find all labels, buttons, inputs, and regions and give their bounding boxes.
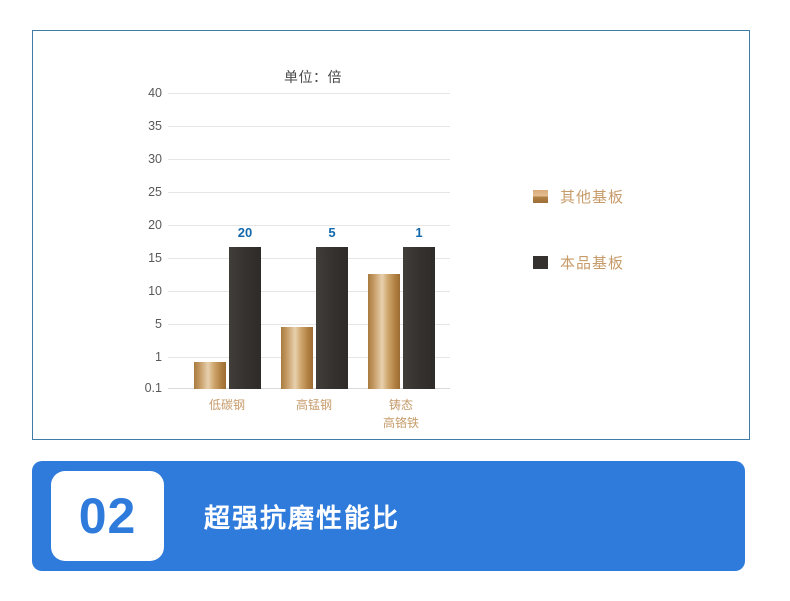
data-label-1: 20: [238, 225, 252, 240]
legend-swatch-dark-icon: [533, 256, 548, 269]
category-label-3: 铸态 高铬铁: [383, 396, 419, 432]
gridline-20: [168, 225, 450, 226]
y-tick-20: 20: [148, 218, 162, 232]
y-tick-1: 1: [155, 350, 162, 364]
gridline-25: [168, 192, 450, 193]
bar-product-substrate-2: [316, 247, 348, 389]
legend-swatch-bronze-icon: [533, 190, 548, 203]
bar-product-substrate-1: [229, 247, 261, 389]
banner-number: 02: [79, 491, 137, 541]
y-tick-0.1: 0.1: [145, 381, 162, 395]
category-label-1-line1: 低碳钢: [209, 396, 245, 414]
y-tick-5: 5: [155, 317, 162, 331]
y-axis: 40 35 30 25 20 15 10 5 1 0.1: [130, 93, 162, 389]
legend-label-other-substrate: 其他基板: [560, 186, 624, 207]
category-label-2: 高锰钢: [296, 396, 332, 414]
category-label-2-line1: 高锰钢: [296, 396, 332, 414]
data-label-3: 1: [415, 225, 422, 240]
y-tick-25: 25: [148, 185, 162, 199]
gridline-35: [168, 126, 450, 127]
section-banner: 02 超强抗磨性能比: [32, 461, 745, 571]
gridline-40: [168, 93, 450, 94]
plot-area: 40 35 30 25 20 15 10 5 1 0.1: [130, 93, 450, 389]
bar-product-substrate-3: [403, 247, 435, 389]
legend-item-product-substrate[interactable]: 本品基板: [533, 247, 723, 277]
plot-grid: 20 5 1 低碳钢 高锰钢 铸态 高铬铁: [168, 93, 450, 389]
legend-label-product-substrate: 本品基板: [560, 252, 624, 273]
y-tick-10: 10: [148, 284, 162, 298]
y-tick-15: 15: [148, 251, 162, 265]
legend-item-other-substrate[interactable]: 其他基板: [533, 181, 723, 211]
gridline-30: [168, 159, 450, 160]
y-tick-30: 30: [148, 152, 162, 166]
chart-title: 单位：倍: [33, 67, 593, 87]
category-label-1: 低碳钢: [209, 396, 245, 414]
y-tick-40: 40: [148, 86, 162, 100]
banner-number-box: 02: [51, 471, 164, 561]
bar-other-substrate-2: [281, 327, 313, 389]
bar-other-substrate-1: [194, 362, 226, 389]
category-label-3-line2: 高铬铁: [383, 414, 419, 432]
chart-legend: 其他基板 本品基板: [533, 181, 723, 313]
chart-panel: 单位：倍 40 35 30 25 20 15 10 5 1 0.1: [32, 30, 750, 440]
bar-other-substrate-3: [368, 274, 400, 389]
banner-heading: 超强抗磨性能比: [204, 461, 400, 571]
y-tick-35: 35: [148, 119, 162, 133]
data-label-2: 5: [328, 225, 335, 240]
category-label-3-line1: 铸态: [383, 396, 419, 414]
